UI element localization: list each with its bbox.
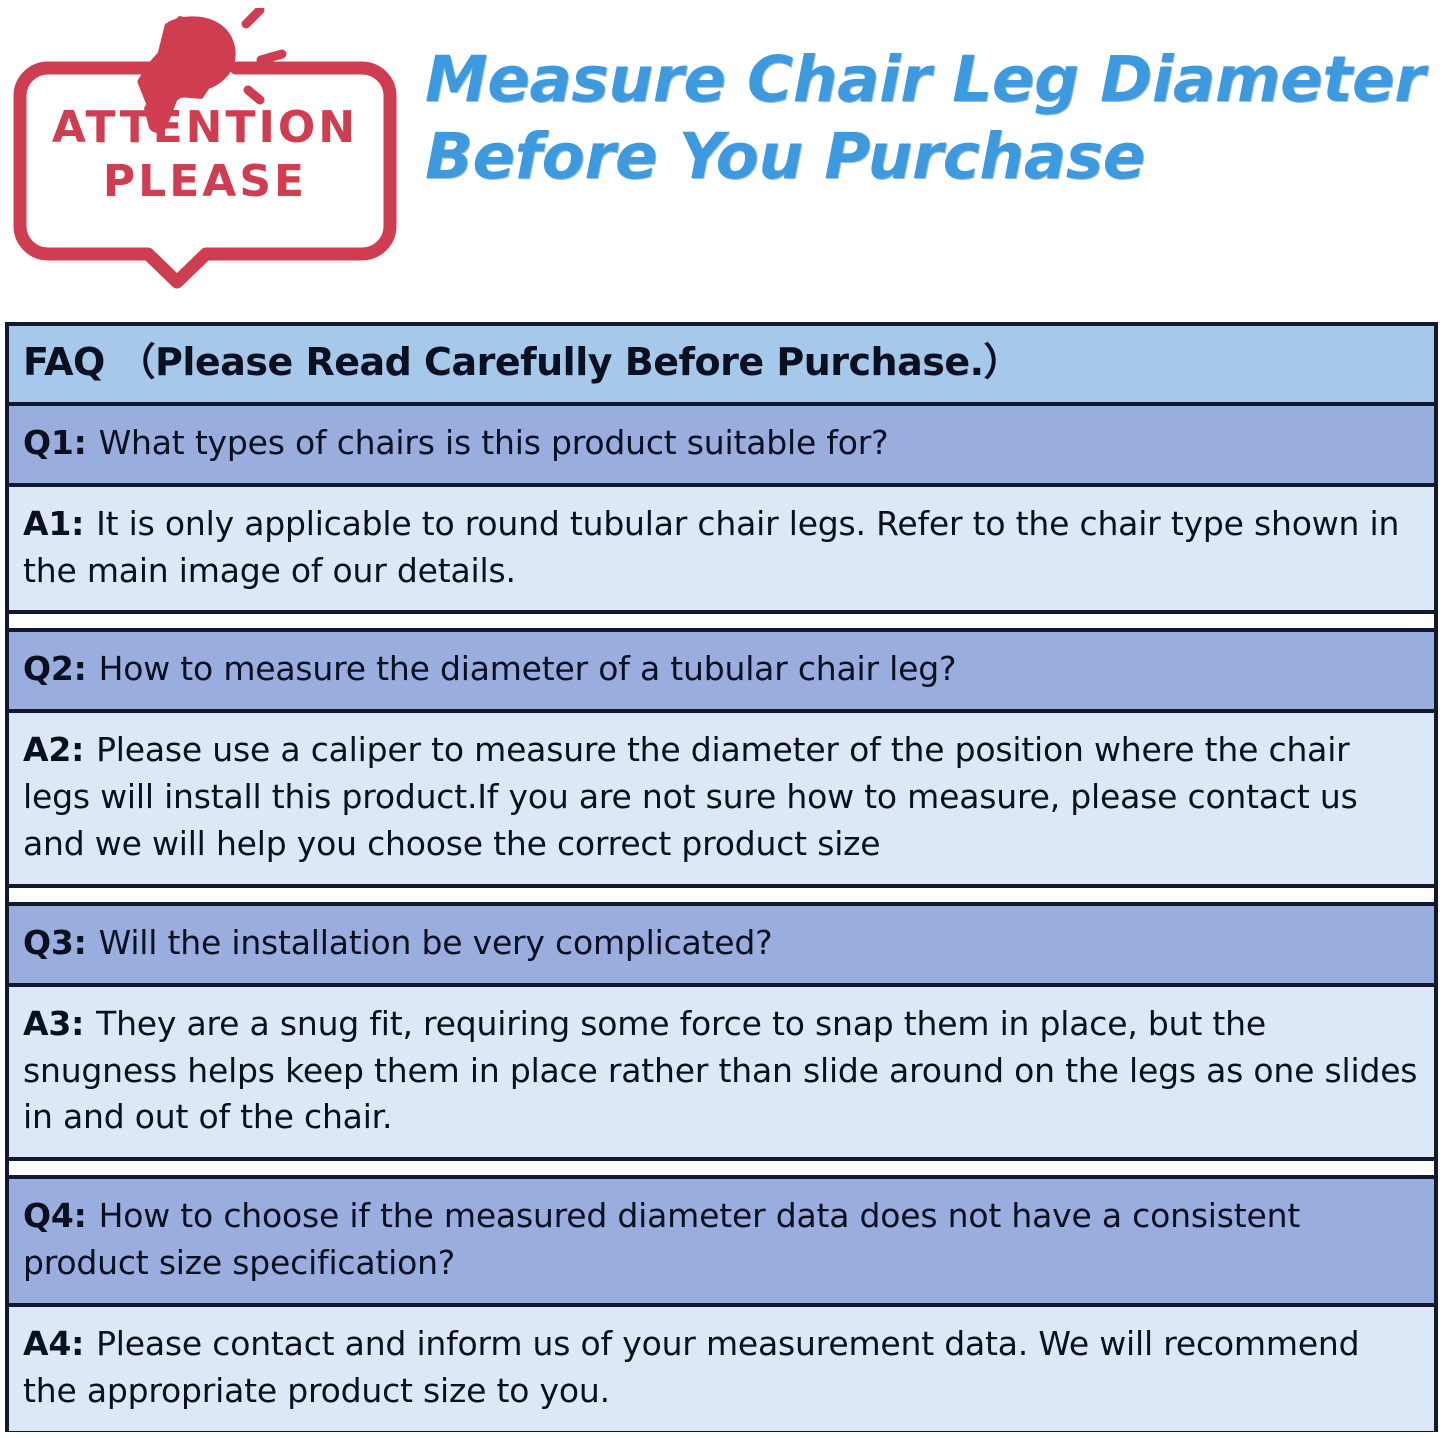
faq-answer-4: A4:Please contact and inform us of your … <box>9 1307 1434 1431</box>
faq-question-label-1: Q1: <box>23 423 87 462</box>
faq-question-4: Q4:How to choose if the measured diamete… <box>9 1179 1434 1307</box>
attention-badge: ATTENTION PLEASE <box>8 8 402 290</box>
faq-answer-text-2: Please use a caliper to measure the diam… <box>23 730 1358 863</box>
page-title-line1: Measure Chair Leg Diameter Size <box>425 42 1435 119</box>
faq-item-4: Q4:How to choose if the measured diamete… <box>9 1179 1434 1430</box>
faq-item-1: Q1:What types of chairs is this product … <box>9 406 1434 633</box>
page-title-line2: Before You Purchase <box>425 119 1435 196</box>
faq-separator-1 <box>9 614 1434 632</box>
faq-question-label-3: Q3: <box>23 923 87 962</box>
faq-answer-label-1: A1: <box>23 504 84 543</box>
faq-question-label-4: Q4: <box>23 1196 87 1235</box>
faq-separator-3 <box>9 1161 1434 1179</box>
faq-question-text-3: Will the installation be very complicate… <box>99 923 773 962</box>
faq-item-3: Q3:Will the installation be very complic… <box>9 906 1434 1179</box>
megaphone-sound-waves <box>246 10 282 100</box>
faq-answer-1: A1:It is only applicable to round tubula… <box>9 487 1434 615</box>
faq-question-1: Q1:What types of chairs is this product … <box>9 406 1434 487</box>
faq-answer-label-4: A4: <box>23 1324 84 1363</box>
faq-answer-label-3: A3: <box>23 1004 84 1043</box>
faq-answer-label-2: A2: <box>23 730 84 769</box>
faq-question-text-1: What types of chairs is this product sui… <box>99 423 889 462</box>
faq-separator-2 <box>9 888 1434 906</box>
faq-item-2: Q2:How to measure the diameter of a tubu… <box>9 632 1434 905</box>
faq-question-2: Q2:How to measure the diameter of a tubu… <box>9 632 1434 713</box>
attention-badge-text: ATTENTION PLEASE <box>8 104 402 205</box>
top-banner: ATTENTION PLEASE Measure Chair Leg Diame… <box>0 0 1445 318</box>
faq-table: FAQ （Please Read Carefully Before Purcha… <box>5 322 1438 1432</box>
faq-question-text-2: How to measure the diameter of a tubular… <box>99 649 957 688</box>
faq-question-3: Q3:Will the installation be very complic… <box>9 906 1434 987</box>
faq-question-label-2: Q2: <box>23 649 87 688</box>
faq-answer-text-1: It is only applicable to round tubular c… <box>23 504 1399 590</box>
faq-answer-3: A3:They are a snug fit, requiring some f… <box>9 987 1434 1162</box>
attention-badge-line1: ATTENTION <box>8 104 402 152</box>
page-title: Measure Chair Leg Diameter Size Before Y… <box>425 42 1435 196</box>
faq-question-text-4: How to choose if the measured diameter d… <box>23 1196 1300 1282</box>
faq-answer-text-3: They are a snug fit, requiring some forc… <box>23 1004 1417 1137</box>
faq-answer-text-4: Please contact and inform us of your mea… <box>23 1324 1359 1410</box>
faq-answer-2: A2:Please use a caliper to measure the d… <box>9 713 1434 888</box>
attention-badge-line2: PLEASE <box>8 158 402 206</box>
faq-title: FAQ （Please Read Carefully Before Purcha… <box>9 326 1434 406</box>
